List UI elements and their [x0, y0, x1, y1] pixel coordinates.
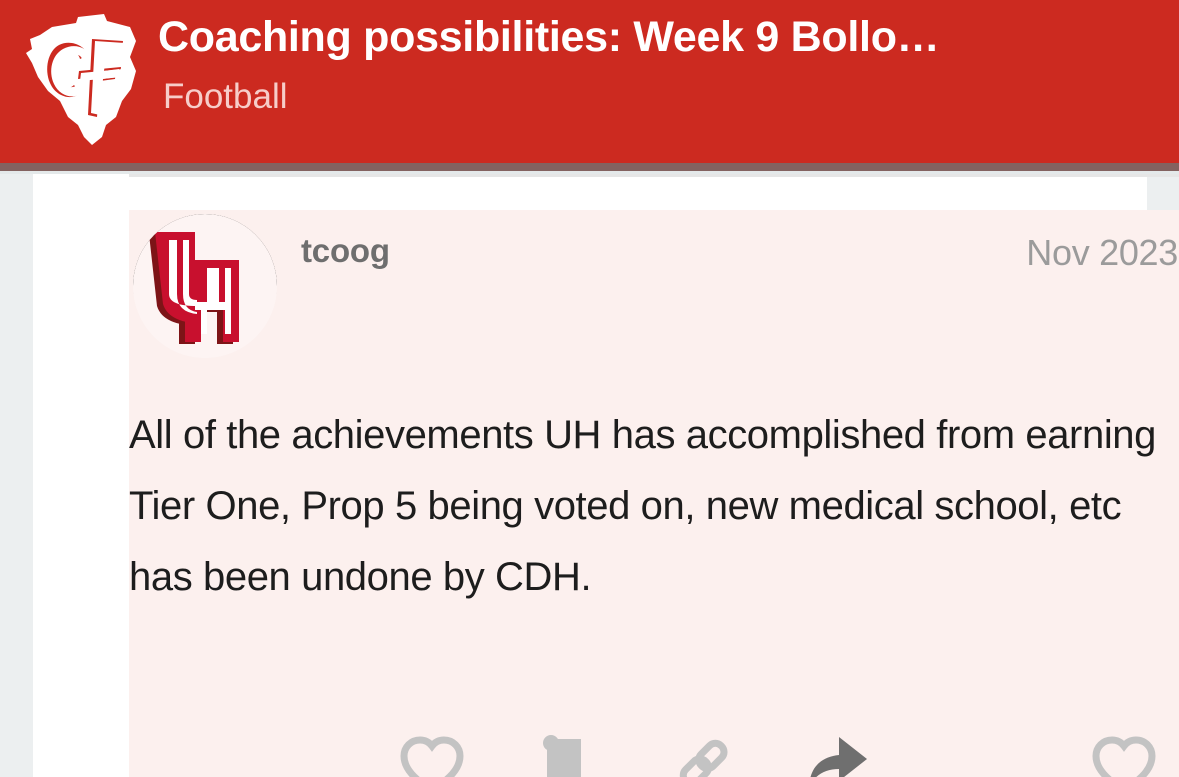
topic-scroll-area[interactable]: tcoog Nov 2023 All of the achievements U… — [0, 174, 1179, 777]
header-bottom-shadow — [0, 163, 1179, 171]
share-icon[interactable] — [801, 729, 871, 777]
app-header: Coaching possibilities: Week 9 Bollo… Fo… — [0, 0, 1179, 163]
post-action-bar — [129, 729, 1179, 777]
left-gutter — [0, 174, 33, 777]
link-icon[interactable] — [669, 729, 739, 777]
category-label: Football — [163, 78, 1179, 117]
post-author[interactable]: tcoog — [301, 232, 390, 270]
reply-icon[interactable] — [1089, 729, 1159, 777]
like-heart-icon[interactable] — [397, 729, 467, 777]
coogfans-texas-cf-logo-icon[interactable] — [18, 5, 148, 155]
post-divider — [129, 174, 1179, 177]
post-header: tcoog Nov 2023 — [129, 210, 1179, 364]
header-text-block: Coaching possibilities: Week 9 Bollo… Fo… — [158, 14, 1179, 117]
post-date: Nov 2023 — [1026, 232, 1178, 274]
topic-canvas: tcoog Nov 2023 All of the achievements U… — [33, 174, 1147, 777]
post-card[interactable]: tcoog Nov 2023 All of the achievements U… — [129, 210, 1179, 777]
uh-houston-cougars-avatar-icon[interactable] — [133, 214, 277, 358]
page-title: Coaching possibilities: Week 9 Bollo… — [158, 14, 1179, 60]
bookmark-icon[interactable] — [529, 729, 599, 777]
post-body: All of the achievements UH has accomplis… — [129, 400, 1179, 613]
post-paragraph: All of the achievements UH has accomplis… — [129, 400, 1179, 613]
